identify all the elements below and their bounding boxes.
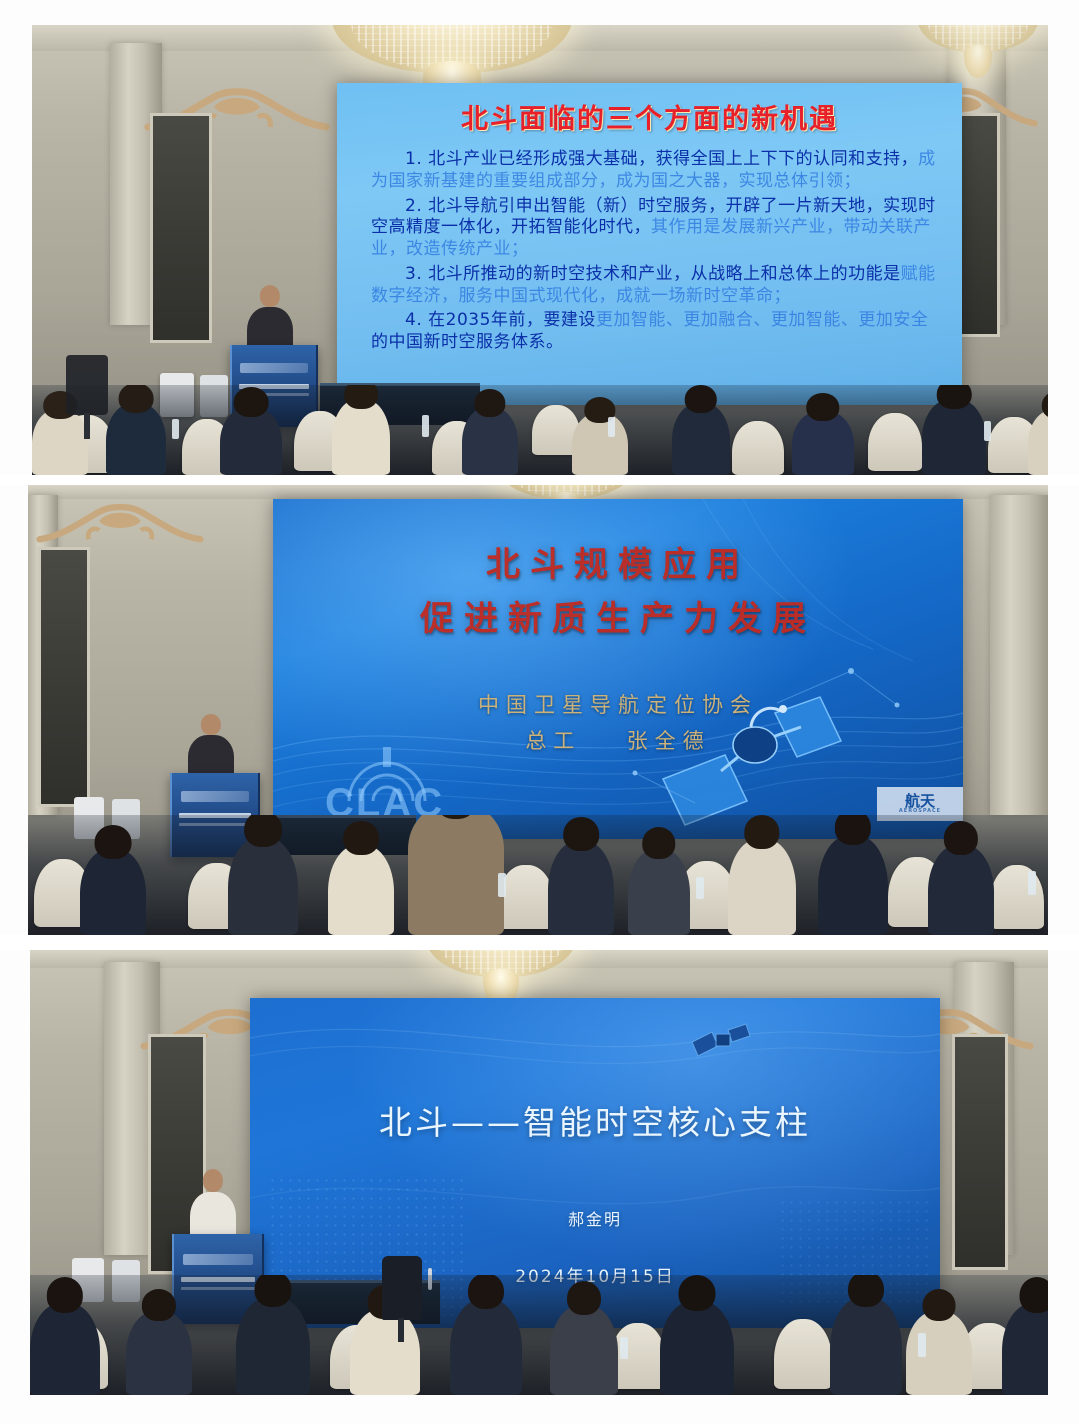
slide2-title-line-1: 北斗规模应用: [273, 537, 963, 586]
audience-person: [106, 403, 166, 475]
audience-person: [906, 1311, 972, 1395]
water-bottle: [172, 419, 179, 439]
stage-drape-left-1: [150, 113, 212, 343]
audience-person: [328, 845, 394, 935]
slide1-p4-faded: 更加智能、更加融合、更加智能、更加安全: [596, 310, 929, 330]
audience-person: [660, 1301, 734, 1395]
audience-area-2: [28, 815, 1048, 935]
slide1-p3-strong: 北斗所推动的新时空技术和产业，从战略上和总体上的功能是: [428, 264, 901, 284]
slide1-p4-strong: 在2035年前，要建设: [428, 310, 596, 330]
speaker-figure-2: [188, 735, 234, 775]
slide3-presenter-name: 郝金明: [250, 1206, 940, 1230]
audience-person: [550, 1305, 618, 1395]
audience-person: [792, 411, 854, 475]
camera-tripod-1: [84, 413, 90, 439]
audience-person: [572, 413, 628, 475]
audience-person: [408, 815, 504, 935]
slide2-title-line-2: 促进新质生产力发展: [273, 591, 963, 640]
camera-operator-3: [382, 1256, 422, 1320]
podium-logo-3: [183, 1254, 253, 1265]
panel-gap-1: [0, 475, 1079, 485]
camera-tripod-3: [398, 1318, 404, 1342]
wall-ornament-left-2: [36, 499, 204, 543]
projection-screen-1: 北斗面临的三个方面的新机遇 1. 北斗产业已经形成强大基础，获得全国上上下下的认…: [337, 83, 962, 405]
audience-area-1: [32, 385, 1048, 475]
audience-person: [728, 839, 796, 935]
speaker-head-1: [260, 285, 280, 307]
photo-panel-3: 北斗——智能时空核心支柱 郝金明 2024年10月15日: [30, 950, 1048, 1395]
photo-panel-2: 北斗规模应用 促进新质生产力发展 中国卫星导航定位协会 总工 张全德: [28, 485, 1048, 935]
speaker-head-2: [201, 714, 221, 735]
slide1-body: 1. 北斗产业已经形成强大基础，获得全国上上下下的认同和支持，成为国家新基建的重…: [371, 149, 940, 357]
audience-person: [628, 849, 690, 935]
stage-drape-right-3: [952, 1034, 1008, 1270]
slide1-p3-num: 3.: [405, 264, 422, 284]
podium-logo-1: [240, 363, 307, 373]
water-bottle: [1028, 871, 1036, 895]
chandelier-right-1: [918, 25, 1038, 79]
slide1-p1-strong: 北斗产业已经形成强大基础，获得全国上上下下的认同和支持，: [428, 149, 918, 169]
slide1-p4-num: 4.: [405, 310, 422, 330]
slide1-p1-num: 1.: [405, 149, 422, 169]
audience-person: [928, 845, 994, 935]
water-bottle: [620, 1337, 628, 1359]
audience-person: [450, 1299, 522, 1395]
camera-rig-1: [66, 355, 108, 415]
audience-person: [672, 403, 730, 475]
audience-person: [818, 835, 888, 935]
audience-person: [236, 1297, 310, 1395]
slide1-p2-num: 2.: [405, 196, 422, 216]
slide1-paragraph-1: 1. 北斗产业已经形成强大基础，获得全国上上下下的认同和支持，成为国家新基建的重…: [371, 149, 940, 193]
slide1-paragraph-4: 4. 在2035年前，要建设更加智能、更加融合、更加智能、更加安全的中国新时空服…: [371, 310, 940, 354]
satellite-icon-3: [684, 1020, 756, 1064]
water-bottle: [498, 873, 506, 897]
slide1-title: 北斗面临的三个方面的新机遇: [337, 97, 962, 136]
slide1-p4-tail: 的中国新时空服务体系。: [371, 332, 564, 352]
water-bottle: [422, 415, 429, 437]
audience-person: [548, 841, 614, 935]
audience-person: [922, 399, 986, 475]
water-bottle: [984, 421, 991, 441]
chair: [732, 421, 784, 475]
chair: [610, 1323, 666, 1389]
slide1-paragraph-3: 3. 北斗所推动的新时空技术和产业，从战略上和总体上的功能是赋能数字经济，服务中…: [371, 264, 940, 308]
audience-area-3: [30, 1275, 1048, 1395]
slide3-title: 北斗——智能时空核心支柱: [250, 1096, 940, 1144]
audience-person: [220, 407, 282, 475]
audience-person: [228, 837, 298, 935]
aerospace-logo-subtext: AEROSPACE: [899, 809, 941, 814]
audience-person: [126, 1311, 192, 1395]
water-bottle: [696, 877, 704, 899]
chair: [868, 413, 922, 471]
aerospace-logo-text: 航天: [905, 794, 935, 809]
photo-panel-1: 北斗面临的三个方面的新机遇 1. 北斗产业已经形成强大基础，获得全国上上下下的认…: [32, 25, 1048, 475]
wall-column-right-2: [990, 495, 1048, 815]
audience-person: [830, 1297, 902, 1395]
audience-person: [30, 1303, 100, 1395]
photo-collage-page: 北斗面临的三个方面的新机遇 1. 北斗产业已经形成强大基础，获得全国上上下下的认…: [0, 0, 1079, 1424]
slide2-presenter-role: 总工: [525, 729, 581, 753]
audience-person: [32, 409, 88, 475]
speaker-figure-1: [247, 307, 293, 349]
slide1-paragraph-2: 2. 北斗导航引申出智能（新）时空服务，开辟了一片新天地，实现时空高精度一体化，…: [371, 196, 940, 261]
speaker-figure-3: [190, 1192, 236, 1236]
audience-person: [332, 399, 390, 475]
speaker-head-3: [203, 1169, 223, 1192]
chair: [774, 1319, 832, 1389]
projection-screen-2: 北斗规模应用 促进新质生产力发展 中国卫星导航定位协会 总工 张全德: [273, 499, 963, 839]
chair: [498, 865, 554, 929]
panel-gap-2: [0, 935, 1079, 950]
water-bottle: [918, 1333, 926, 1357]
satellite-icon: [605, 653, 915, 833]
stage-drape-left-2: [38, 547, 90, 807]
audience-person: [462, 407, 518, 475]
podium-logo-2: [181, 791, 250, 801]
water-bottle: [608, 417, 615, 437]
audience-person: [80, 849, 146, 935]
audience-person: [350, 1309, 420, 1395]
